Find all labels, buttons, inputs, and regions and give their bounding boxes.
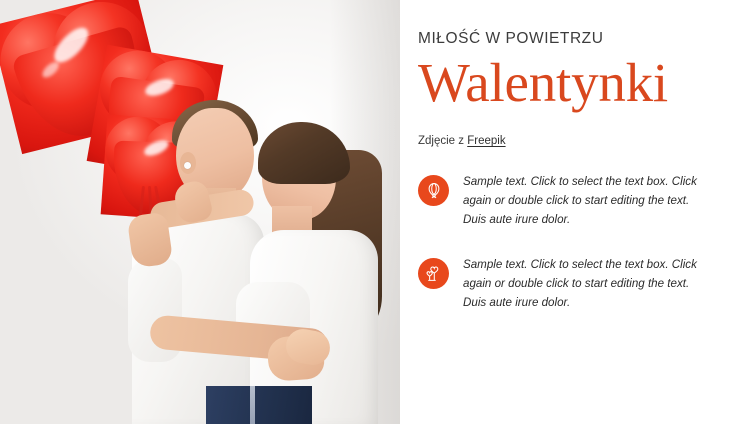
- feature-text: Sample text. Click to select the text bo…: [463, 256, 704, 312]
- man-earring: [184, 162, 191, 169]
- hero-content: MIŁOŚĆ W POWIETRZU Walentynki Zdjęcie z …: [400, 0, 750, 424]
- hot-air-balloon-icon: [418, 175, 449, 206]
- heart-balloons-icon: [418, 258, 449, 289]
- eyebrow-text: MIŁOŚĆ W POWIETRZU: [418, 30, 704, 48]
- freepik-link[interactable]: Freepik: [467, 135, 505, 147]
- valentines-hero-page: MIŁOŚĆ W POWIETRZU Walentynki Zdjęcie z …: [0, 0, 750, 424]
- feature-item[interactable]: Sample text. Click to select the text bo…: [418, 256, 704, 312]
- feature-item[interactable]: Sample text. Click to select the text bo…: [418, 173, 704, 229]
- page-title: Walentynki: [418, 55, 704, 111]
- credit-prefix: Zdjęcie z: [418, 135, 467, 147]
- feature-text: Sample text. Click to select the text bo…: [463, 173, 704, 229]
- jeans-seam: [250, 386, 255, 424]
- hero-photo: [0, 0, 400, 424]
- feature-list: Sample text. Click to select the text bo…: [418, 173, 704, 313]
- photo-credit: Zdjęcie z Freepik: [418, 135, 704, 147]
- man-jeans: [206, 386, 312, 424]
